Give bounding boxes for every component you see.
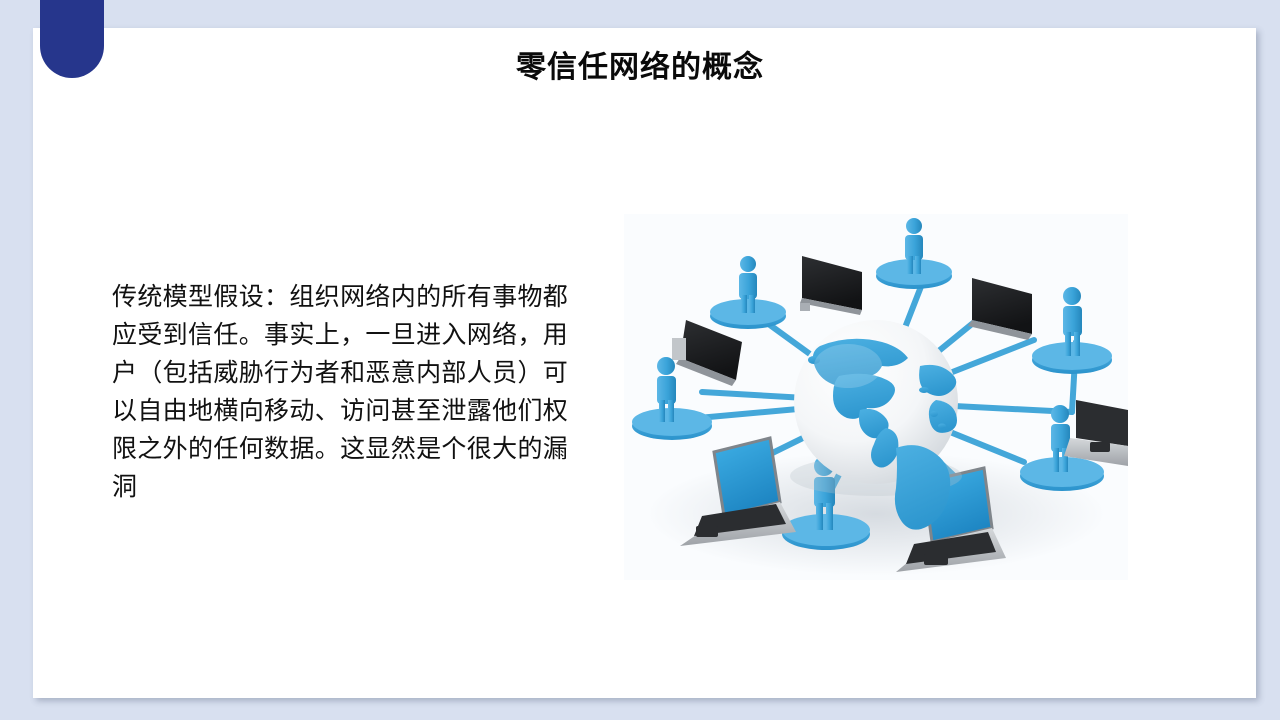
page-title: 零信任网络的概念 bbox=[180, 48, 1100, 88]
corner-tab-decoration bbox=[40, 0, 104, 78]
network-diagram-svg bbox=[624, 214, 1128, 580]
slide-stage: 零信任网络的概念 传统模型假设：组织网络内的所有事物都应受到信任。事实上，一旦进… bbox=[0, 0, 1280, 720]
global-network-illustration bbox=[624, 214, 1128, 580]
body-paragraph: 传统模型假设：组织网络内的所有事物都应受到信任。事实上，一旦进入网络，用户（包括… bbox=[112, 278, 568, 506]
